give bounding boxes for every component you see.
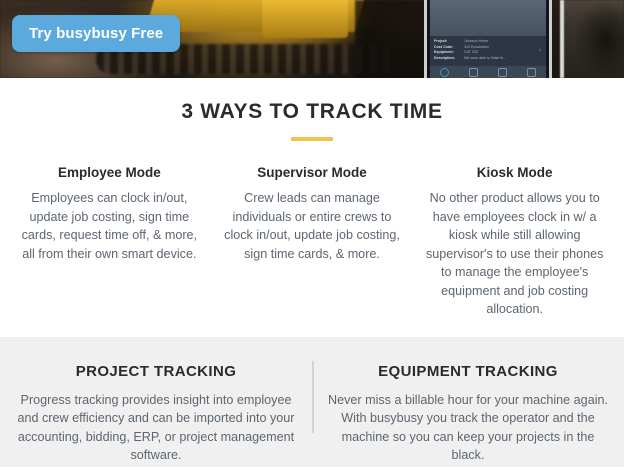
phone-detail-value: We were able to finish th... — [464, 56, 506, 62]
excavator-cab-shape — [262, 0, 348, 38]
mode-title: Employee Mode — [20, 165, 199, 180]
tracking-description: Progress tracking provides insight into … — [14, 391, 298, 465]
section-title: 3 WAYS TO TRACK TIME — [0, 100, 624, 124]
tracking-title: EQUIPMENT TRACKING — [326, 363, 610, 380]
person-icon — [498, 68, 507, 77]
phone-detail-row: Description: We were able to finish th..… — [434, 56, 542, 62]
try-busybusy-free-button[interactable]: Try busybusy Free — [12, 15, 180, 52]
mode-columns: Employee Mode Employees can clock in/out… — [0, 165, 624, 319]
mode-description: Employees can clock in/out, update job c… — [20, 189, 199, 263]
vertical-divider — [312, 361, 314, 433]
calendar-icon — [527, 68, 536, 77]
tracking-section: PROJECT TRACKING Progress tracking provi… — [0, 337, 624, 467]
ways-to-track-section: 3 WAYS TO TRACK TIME Employee Mode Emplo… — [0, 78, 624, 337]
mode-title: Kiosk Mode — [425, 165, 604, 180]
title-underline-accent — [291, 137, 333, 141]
phone-tab-bar — [430, 66, 546, 78]
photo-icon — [469, 68, 478, 77]
mode-description: No other product allows you to have empl… — [425, 189, 604, 319]
phone-mockup: Project: Johnson Home Cost Code: 410 Exc… — [424, 0, 552, 78]
hero-banner: Project: Johnson Home Cost Code: 410 Exc… — [0, 0, 624, 78]
mode-column-supervisor: Supervisor Mode Crew leads can manage in… — [211, 165, 414, 319]
hero-right-photo — [560, 0, 624, 78]
tracking-column-project: PROJECT TRACKING Progress tracking provi… — [0, 363, 312, 467]
phone-screen-photo — [430, 0, 546, 36]
mode-column-employee: Employee Mode Employees can clock in/out… — [8, 165, 211, 319]
mode-title: Supervisor Mode — [223, 165, 402, 180]
tracking-column-equipment: EQUIPMENT TRACKING Never miss a billable… — [312, 363, 624, 467]
clock-icon — [440, 68, 449, 77]
phone-entry-details: Project: Johnson Home Cost Code: 410 Exc… — [430, 36, 546, 66]
mode-column-kiosk: Kiosk Mode No other product allows you t… — [413, 165, 616, 319]
tracking-description: Never miss a billable hour for your mach… — [326, 391, 610, 465]
chevron-right-icon: › — [539, 49, 541, 55]
tracking-title: PROJECT TRACKING — [14, 363, 298, 380]
mode-description: Crew leads can manage individuals or ent… — [223, 189, 402, 263]
phone-detail-key: Description: — [434, 56, 464, 62]
